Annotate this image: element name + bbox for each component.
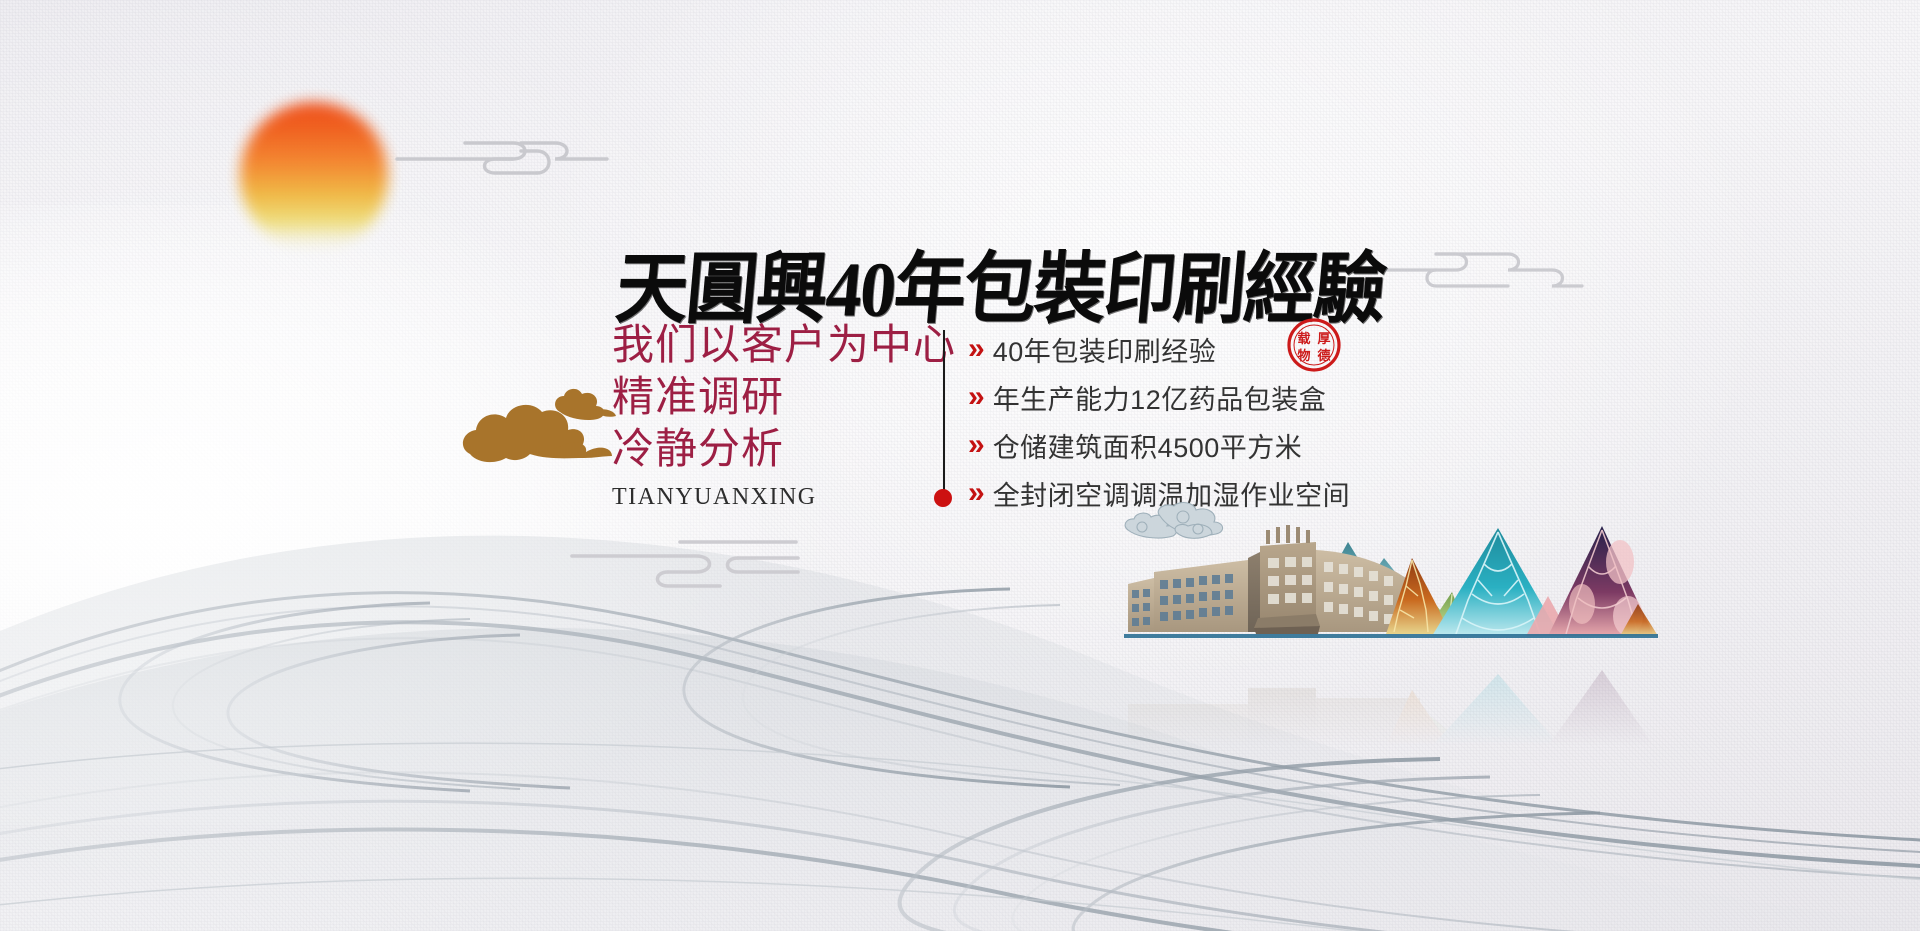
chinese-cloud-icon <box>570 528 800 590</box>
chevron-right-icon: » <box>968 334 985 364</box>
seal-char-top-left: 载 <box>1297 331 1310 346</box>
list-item: » 年生产能力12亿药品包装盒 <box>968 376 1350 418</box>
promotional-banner: 天圓興40年包裝印刷經驗 我们以客户为中心 精准调研 冷静分析 TIANYUAN… <box>0 0 1920 931</box>
chinese-cloud-icon <box>395 125 610 185</box>
slogan-block: 我们以客户为中心 精准调研 冷静分析 TIANYUANXING <box>612 320 942 511</box>
vertical-divider <box>943 330 945 498</box>
feature-label: 仓储建筑面积4500平方米 <box>993 426 1303 465</box>
seal-char-bottom-left: 物 <box>1297 348 1310 363</box>
factory-building-icon <box>1120 500 1660 680</box>
list-item: » 仓储建筑面积4500平方米 <box>968 424 1350 466</box>
chinese-cloud-icon <box>1380 238 1585 296</box>
seal-stamp-icon: 载 厚 物 德 <box>1286 317 1342 373</box>
chevron-right-icon: » <box>968 382 985 412</box>
feature-label: 年生产能力12亿药品包装盒 <box>993 378 1327 417</box>
seal-char-top-right: 厚 <box>1317 331 1330 346</box>
chevron-right-icon: » <box>968 478 985 508</box>
slogan-line-3: 冷静分析 <box>612 424 942 476</box>
divider-dot <box>934 489 952 507</box>
slogan-english: TIANYUANXING <box>612 484 942 511</box>
gold-cloud-icon <box>452 382 632 480</box>
chevron-right-icon: » <box>968 430 985 460</box>
slogan-line-2: 精准调研 <box>612 372 942 424</box>
rising-sun-icon <box>240 102 388 250</box>
chinese-cloud-icon <box>1125 503 1222 539</box>
feature-label: 40年包装印刷经验 <box>993 330 1217 369</box>
slogan-line-1: 我们以客户为中心 <box>612 320 942 372</box>
stylized-mountain-icon <box>1386 526 1658 636</box>
seal-char-bottom-right: 德 <box>1317 348 1330 363</box>
